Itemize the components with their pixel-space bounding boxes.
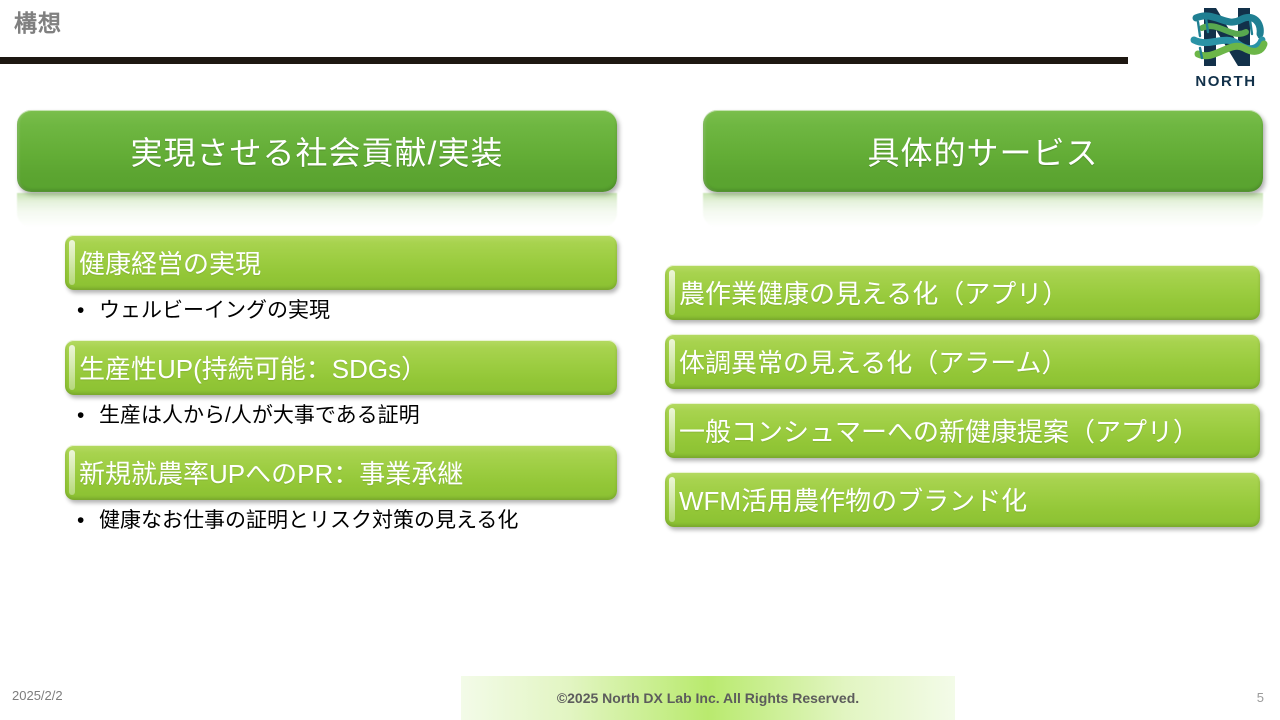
title-divider-rule — [0, 57, 1128, 64]
left-column-header[interactable]: 実現させる社会貢献/実装 — [17, 110, 617, 192]
left-item-2-bullet-1: • 生産は人から/人が大事である証明 — [65, 395, 617, 437]
left-item-3-bullet-1-text: 健康なお仕事の証明とリスク対策の見える化 — [99, 506, 569, 536]
right-item-2[interactable]: 体調異常の見える化（アラーム） — [665, 334, 1260, 389]
right-item-3-label: 一般コンシュマーへの新健康提案（アプリ） — [665, 412, 1199, 449]
left-column-header-label: 実現させる社会貢献/実装 — [131, 128, 504, 174]
left-item-3-bullet-1: • 健康なお仕事の証明とリスク対策の見える化 — [65, 500, 617, 542]
right-items-group: 農作業健康の見える化（アプリ） 体調異常の見える化（アラーム） 一般コンシュマー… — [665, 227, 1260, 527]
footer-copyright-text: ©2025 North DX Lab Inc. All Rights Reser… — [557, 690, 859, 706]
right-column-header[interactable]: 具体的サービス — [703, 110, 1263, 192]
left-item-3-label: 新規就農率UPへのPR：事業承継 — [65, 454, 463, 491]
left-column: 実現させる社会貢献/実装 健康経営の実現 • ウェルビーイングの実現 生産性UP… — [17, 110, 617, 542]
north-dx-lab-logo: NORTH — [1180, 0, 1272, 92]
right-column: 具体的サービス 農作業健康の見える化（アプリ） 体調異常の見える化（アラーム） … — [703, 110, 1263, 527]
svg-text:NORTH: NORTH — [1195, 73, 1256, 90]
footer-copyright-band: ©2025 North DX Lab Inc. All Rights Reser… — [461, 676, 955, 720]
right-header-reflection — [703, 193, 1263, 227]
left-item-2-label: 生産性UP(持続可能：SDGs） — [65, 349, 427, 386]
right-item-4-label: WFM活用農作物のブランド化 — [665, 481, 1027, 518]
left-item-1-bullet-1: • ウェルビーイングの実現 — [65, 290, 617, 332]
right-column-header-label: 具体的サービス — [867, 128, 1098, 174]
right-item-1-label: 農作業健康の見える化（アプリ） — [665, 274, 1068, 311]
left-item-1-label: 健康経営の実現 — [65, 244, 261, 281]
right-item-2-label: 体調異常の見える化（アラーム） — [665, 343, 1067, 380]
left-items-group: 健康経営の実現 • ウェルビーイングの実現 生産性UP(持続可能：SDGs） •… — [65, 227, 617, 542]
left-item-2[interactable]: 生産性UP(持続可能：SDGs） — [65, 340, 617, 395]
left-header-reflection — [17, 193, 617, 227]
right-item-3[interactable]: 一般コンシュマーへの新健康提案（アプリ） — [665, 403, 1260, 458]
right-item-1[interactable]: 農作業健康の見える化（アプリ） — [665, 265, 1260, 320]
bullet-icon: • — [77, 506, 99, 536]
left-item-1[interactable]: 健康経営の実現 — [65, 235, 617, 290]
left-item-2-bullet-1-text: 生産は人から/人が大事である証明 — [99, 401, 569, 431]
bullet-icon: • — [77, 296, 99, 326]
footer-date: 2025/2/2 — [12, 688, 63, 703]
right-item-4[interactable]: WFM活用農作物のブランド化 — [665, 472, 1260, 527]
page-title: 構想 — [14, 6, 62, 40]
left-item-3[interactable]: 新規就農率UPへのPR：事業承継 — [65, 445, 617, 500]
footer-page-number: 5 — [1257, 690, 1264, 705]
left-item-1-bullet-1-text: ウェルビーイングの実現 — [99, 296, 569, 326]
bullet-icon: • — [77, 401, 99, 431]
